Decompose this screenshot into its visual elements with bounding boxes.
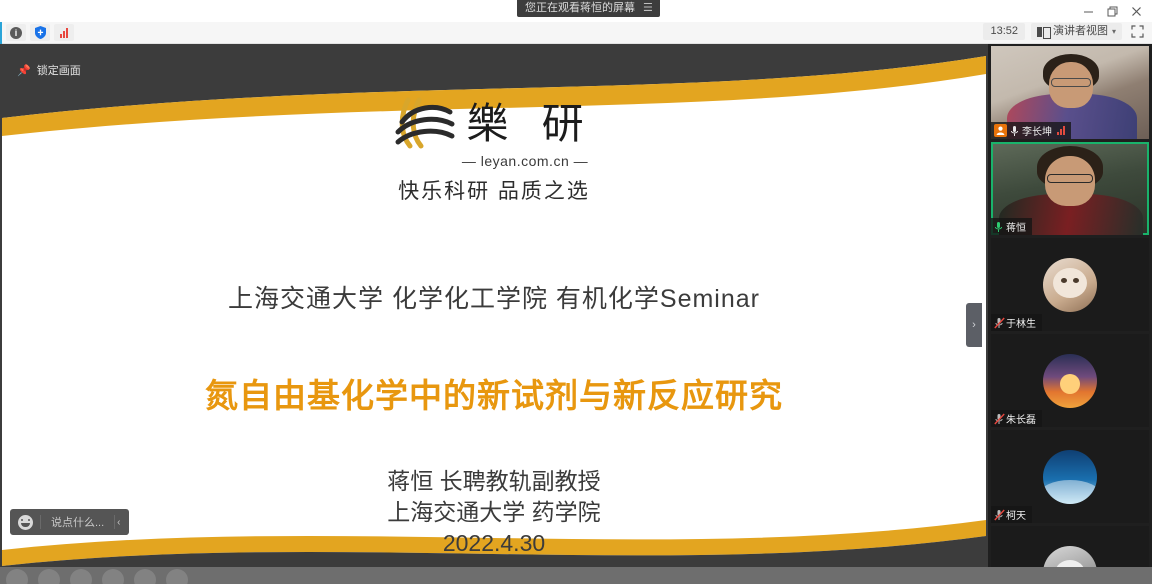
zoom-screen-share-window: 您正在观看蒋恒的屏幕 ☰ i — [0, 0, 1152, 584]
restore-icon[interactable] — [1100, 1, 1124, 21]
avatar-tile[interactable]: 柯天 — [991, 430, 1149, 523]
avatar — [1043, 450, 1097, 504]
avatar-tile[interactable]: 于林生 — [991, 238, 1149, 331]
os-taskbar[interactable] — [0, 567, 1152, 584]
tile-name-bar: 朱长磊 — [991, 410, 1042, 427]
window-controls — [1076, 0, 1148, 22]
lock-screen-button[interactable]: 📌 锁定画面 — [10, 58, 91, 82]
slide-affiliation: 上海交通大学 化学化工学院 有机化学Seminar — [2, 279, 986, 315]
signal-bars-icon — [1057, 126, 1065, 135]
logo-row: 樂 研 — [394, 96, 593, 152]
logo-url: — leyan.com.cn — — [462, 153, 588, 169]
taskbar-icon[interactable] — [70, 569, 92, 584]
speaker-affiliation: 上海交通大学 药学院 — [2, 497, 986, 528]
view-mode-label: 演讲者视图 — [1053, 25, 1108, 38]
mic-unmuted-icon — [1010, 125, 1019, 137]
video-tile[interactable]: 蒋恒 — [991, 142, 1149, 235]
speaker-name-title: 蒋恒 长聘教轨副教授 — [2, 466, 986, 497]
taskbar-icon[interactable] — [6, 569, 28, 584]
mic-unmuted-icon — [994, 221, 1003, 233]
video-panel-toggle-handle[interactable]: › — [966, 303, 982, 347]
logo-tagline: 快乐科研 品质之选 — [398, 175, 590, 205]
chevron-down-icon: ▾ — [1112, 25, 1116, 38]
window-title-strip: 您正在观看蒋恒的屏幕 ☰ — [0, 0, 1152, 22]
mic-muted-icon — [994, 413, 1003, 425]
shared-screen-area: 樂 研 — leyan.com.cn — 快乐科研 品质之选 上海交通大学 化学… — [0, 44, 988, 584]
share-toolbar: i 13:52 演讲者视图 ▾ — [0, 22, 1152, 44]
participant-video-strip[interactable]: 李长坤 蒋恒 — [988, 44, 1152, 584]
viewing-screen-notice: 您正在观看蒋恒的屏幕 ☰ — [517, 0, 660, 17]
taskbar-icon[interactable] — [166, 569, 188, 584]
lock-screen-label: 锁定画面 — [37, 62, 81, 78]
avatar — [1043, 354, 1097, 408]
shield-icon[interactable] — [30, 24, 50, 41]
leyan-logo: 樂 研 — leyan.com.cn — 快乐科研 品质之选 — [2, 96, 986, 205]
info-icon[interactable]: i — [6, 24, 26, 41]
tile-name-bar: 李长坤 — [991, 122, 1071, 139]
network-stats-icon[interactable] — [54, 24, 74, 41]
logo-characters: 樂 研 — [466, 100, 593, 148]
meeting-clock: 13:52 — [983, 23, 1025, 40]
minimize-icon[interactable] — [1076, 1, 1100, 21]
mic-muted-icon — [994, 509, 1003, 521]
participant-name: 蒋恒 — [1006, 219, 1026, 234]
mic-muted-icon — [994, 317, 1003, 329]
participant-name: 于林生 — [1006, 315, 1036, 330]
host-badge-icon — [994, 124, 1007, 137]
taskbar-icon[interactable] — [38, 569, 60, 584]
tile-name-bar: 柯天 — [991, 506, 1032, 523]
taskbar-icon[interactable] — [102, 569, 124, 584]
notice-menu-icon[interactable]: ☰ — [643, 0, 652, 17]
close-icon[interactable] — [1124, 1, 1148, 21]
share-toolbar-right: 13:52 演讲者视图 ▾ — [983, 23, 1146, 40]
fullscreen-icon[interactable] — [1128, 24, 1146, 40]
view-mode-selector[interactable]: 演讲者视图 ▾ — [1031, 23, 1122, 40]
slide-title: 氮自由基化学中的新试剂与新反应研究 — [2, 369, 986, 417]
participant-name: 柯天 — [1006, 507, 1026, 522]
slide-speaker-block: 蒋恒 长聘教轨副教授 上海交通大学 药学院 2022.4.30 — [2, 466, 986, 559]
taskbar-icon[interactable] — [134, 569, 156, 584]
tile-name-bar: 蒋恒 — [991, 218, 1032, 235]
leyan-logo-mark — [394, 96, 456, 152]
share-toolbar-left: i — [6, 24, 74, 41]
slide-date: 2022.4.30 — [2, 528, 986, 559]
participant-name: 李长坤 — [1022, 123, 1052, 138]
participant-name: 朱长磊 — [1006, 411, 1036, 426]
pin-icon: 📌 — [17, 64, 31, 77]
chat-input[interactable]: 说点什么... — [41, 514, 114, 530]
tile-name-bar: 于林生 — [991, 314, 1042, 331]
emoji-icon[interactable] — [10, 515, 40, 530]
avatar — [1043, 258, 1097, 312]
speaker-view-icon — [1037, 27, 1049, 37]
avatar-tile[interactable]: 朱长磊 — [991, 334, 1149, 427]
video-tile[interactable]: 李长坤 — [991, 46, 1149, 139]
viewing-screen-notice-text: 您正在观看蒋恒的屏幕 — [525, 0, 635, 17]
chat-input-bar[interactable]: 说点什么... ‹ — [10, 509, 129, 535]
presentation-slide: 樂 研 — leyan.com.cn — 快乐科研 品质之选 上海交通大学 化学… — [2, 44, 986, 584]
slide-content: 樂 研 — leyan.com.cn — 快乐科研 品质之选 上海交通大学 化学… — [2, 44, 986, 584]
chat-collapse-icon[interactable]: ‹ — [115, 517, 128, 528]
